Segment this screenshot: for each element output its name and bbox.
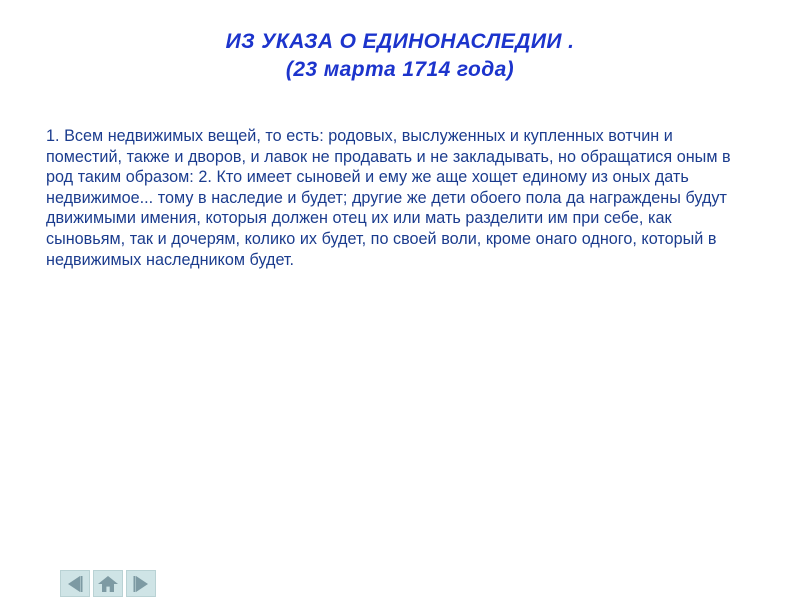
- title-line-secondary: (23 марта 1714 года): [0, 56, 800, 84]
- slide-title: ИЗ УКАЗА О ЕДИНОНАСЛЕДИИ . (23 марта 171…: [0, 28, 800, 84]
- back-button[interactable]: [60, 570, 90, 597]
- home-icon: [97, 574, 119, 594]
- title-line-primary: ИЗ УКАЗА О ЕДИНОНАСЛЕДИИ .: [0, 28, 800, 56]
- triangle-left-icon: [65, 575, 85, 593]
- forward-button[interactable]: [126, 570, 156, 597]
- slide-body: 1. Всем недвижимых вещей, то есть: родов…: [46, 126, 752, 270]
- body-paragraph: 1. Всем недвижимых вещей, то есть: родов…: [46, 126, 752, 270]
- navigation-bar: [60, 570, 156, 597]
- home-button[interactable]: [93, 570, 123, 597]
- slide-canvas: ИЗ УКАЗА О ЕДИНОНАСЛЕДИИ . (23 марта 171…: [0, 0, 800, 600]
- triangle-right-icon: [131, 575, 151, 593]
